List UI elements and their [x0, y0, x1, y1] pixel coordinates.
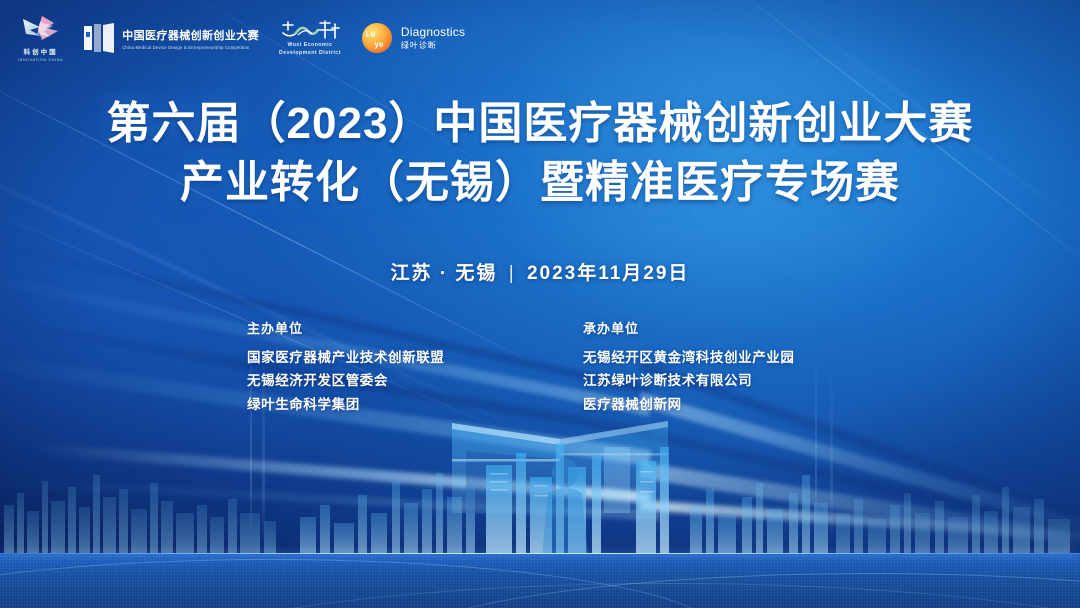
- logo-luye-en: Diagnostics: [401, 25, 465, 39]
- event-location: 江苏 · 无锡: [391, 263, 498, 284]
- logo-wuxi-economic-development-district: Wuxi Economic Development District: [279, 19, 341, 57]
- logo-luye-cn: 绿叶诊断: [401, 40, 465, 51]
- svg-text:ye: ye: [374, 40, 383, 49]
- meta-separator: |: [509, 263, 516, 284]
- logo-wuxi-en-line2: Development District: [279, 50, 341, 57]
- host-item: 无锡经济开发区管委会: [247, 369, 497, 392]
- logo-cmdc-cn: 中国医疗器械创新创业大赛: [122, 27, 259, 43]
- logo-innovation-china: 科创中国 INNOVATION CHINA: [18, 14, 63, 62]
- logo-cmdc: 中国医疗器械创新创业大赛 China Medical Device Design…: [83, 23, 259, 53]
- organizer-block: 主办单位 国家医疗器械产业技术创新联盟 无锡经济开发区管委会 绿叶生命科学集团 …: [0, 318, 1080, 416]
- title-line-1: 第六届（2023）中国医疗器械创新创业大赛: [0, 95, 1080, 154]
- logo-cmdc-en: China Medical Device Design & Entreprene…: [122, 45, 259, 50]
- title-line-2: 产业转化（无锡）暨精准医疗专场赛: [0, 154, 1080, 213]
- poster-content: 第六届（2023）中国医疗器械创新创业大赛 产业转化（无锡）暨精准医疗专场赛 江…: [0, 0, 1080, 608]
- poster-title: 第六届（2023）中国医疗器械创新创业大赛 产业转化（无锡）暨精准医疗专场赛: [0, 95, 1080, 213]
- event-date: 2023年11月29日: [527, 263, 690, 284]
- cohost-item: 江苏绿叶诊断技术有限公司: [583, 369, 833, 392]
- logo-luye-diagnostics: Lu ye Diagnostics 绿叶诊断: [361, 22, 465, 54]
- luye-circle-icon: Lu ye: [361, 22, 393, 54]
- svg-text:Lu: Lu: [366, 30, 376, 39]
- wuxi-calligraphy-icon: [280, 19, 340, 41]
- innovation-china-bird-icon: [20, 14, 62, 44]
- host-column: 主办单位 国家医疗器械产业技术创新联盟 无锡经济开发区管委会 绿叶生命科学集团: [247, 318, 497, 416]
- event-poster: 科创中国 INNOVATION CHINA 中国医疗器械创新创业大赛 China…: [0, 0, 1080, 608]
- logo-innovation-china-cn: 科创中国: [24, 46, 58, 56]
- sponsor-logo-bar: 科创中国 INNOVATION CHINA 中国医疗器械创新创业大赛 China…: [18, 14, 465, 62]
- host-item: 绿叶生命科学集团: [247, 393, 497, 416]
- logo-innovation-china-en: INNOVATION CHINA: [18, 58, 63, 62]
- cohost-column: 承办单位 无锡经开区黄金湾科技创业产业园 江苏绿叶诊断技术有限公司 医疗器械创新…: [583, 318, 833, 416]
- cohost-item: 医疗器械创新网: [583, 393, 833, 416]
- event-meta: 江苏 · 无锡 | 2023年11月29日: [0, 258, 1080, 285]
- cohost-item: 无锡经开区黄金湾科技创业产业园: [583, 346, 833, 369]
- logo-wuxi-en-line1: Wuxi Economic: [287, 42, 332, 49]
- open-door-icon: [83, 23, 115, 53]
- cohost-heading: 承办单位: [583, 318, 833, 337]
- host-item: 国家医疗器械产业技术创新联盟: [247, 346, 497, 369]
- host-heading: 主办单位: [247, 318, 497, 337]
